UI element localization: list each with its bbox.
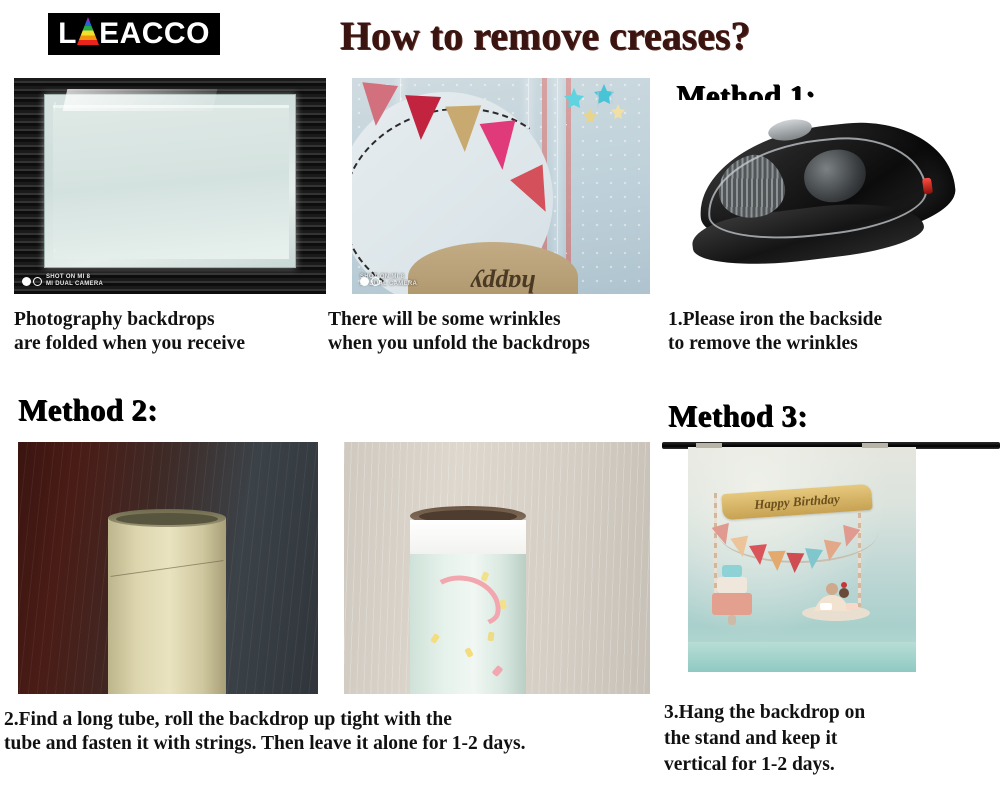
bunting-flag: [768, 551, 787, 572]
hanging-backdrop-cloth: Happy Birthday: [688, 447, 916, 672]
confetti-dot: [481, 571, 490, 582]
watermark-line-2: MI DUAL CAMERA: [46, 281, 103, 288]
method-3-heading: Method 3:: [668, 398, 808, 434]
bunting-flag-1: [358, 82, 398, 128]
logo-text-rest: EACCO: [99, 17, 210, 50]
logo-text: LAEACCO: [58, 13, 210, 55]
backdrop-clip-right[interactable]: [862, 443, 888, 448]
laeacco-logo: LAEACCO: [48, 13, 220, 55]
cardboard-tube: [108, 518, 226, 694]
backdrop-clip-left[interactable]: [696, 443, 722, 448]
camera-watermark: SHOT ON MI 8 MI DUAL CAMERA: [360, 274, 417, 288]
watermark-line-1: SHOT ON MI 8: [46, 274, 103, 281]
caption-method-1: 1.Please iron the backside to remove the…: [668, 308, 998, 356]
camera-watermark: SHOT ON MI 8 MI DUAL CAMERA: [22, 274, 103, 288]
caption-wrinkles: There will be some wrinkles when you unf…: [328, 308, 658, 356]
page-header: LAEACCO How to remove creases?: [0, 0, 1000, 74]
backdrop-floor-strip: [688, 642, 916, 672]
caption-folded-backdrop: Photography backdrops are folded when yo…: [14, 308, 334, 356]
logo-letter-a-slot: A: [77, 13, 99, 55]
birthday-cake-icon: [710, 559, 754, 625]
bunting-flag-4: [480, 120, 521, 172]
confetti-dot: [430, 633, 440, 644]
bunting-flag: [786, 553, 805, 574]
confetti-dot: [464, 647, 474, 658]
photo-cardboard-tube: [18, 442, 318, 694]
photo-clothes-iron: [664, 100, 994, 290]
rainbow-pyramid-icon: [77, 17, 99, 45]
method-2-heading: Method 2:: [18, 392, 158, 428]
photo-rolled-backdrop-on-tube: [344, 442, 650, 694]
iron-icon: [692, 122, 966, 272]
confetti-dot: [492, 665, 504, 677]
confetti-dot: [499, 599, 507, 609]
cake-tier-mid: [717, 577, 747, 593]
watermark-lens-icon: [22, 277, 42, 286]
cake-tier-bottom: [712, 593, 752, 615]
photo-folded-backdrop-in-bag: SHOT ON MI 8 MI DUAL CAMERA: [14, 78, 326, 294]
watermark-lens-icon: [360, 274, 417, 288]
page-title: How to remove creases?: [285, 10, 805, 62]
caption-method-3: 3.Hang the backdrop on the stand and kee…: [664, 700, 1000, 778]
logo-letter-l: L: [58, 17, 77, 50]
cake-tier-top: [722, 565, 742, 577]
tube-white-band: [410, 520, 526, 554]
caption-method-2: 2.Find a long tube, roll the backdrop up…: [4, 708, 654, 756]
infographic-page: LAEACCO How to remove creases? SHOT ON M…: [0, 0, 1000, 786]
photo-wrinkled-backdrop: happy SHOT ON MI 8 MI DUAL CAMERA: [352, 78, 650, 294]
confetti-sprinkles: [566, 124, 646, 254]
photo-hanging-backdrop: Happy Birthday: [662, 442, 1000, 692]
star-cluster-icon: [560, 82, 644, 142]
backdrop-happy-text: happy: [438, 268, 568, 294]
confetti-dot: [487, 632, 494, 642]
dessert-table-icon: [800, 573, 872, 621]
rolled-backdrop-tube: [410, 516, 526, 694]
cake-stand: [728, 615, 736, 625]
plastic-bag: [44, 94, 296, 268]
pink-squiggle-pattern: [422, 569, 507, 634]
bunting-flag-2: [403, 95, 441, 141]
bunting-flag-3: [445, 105, 483, 152]
